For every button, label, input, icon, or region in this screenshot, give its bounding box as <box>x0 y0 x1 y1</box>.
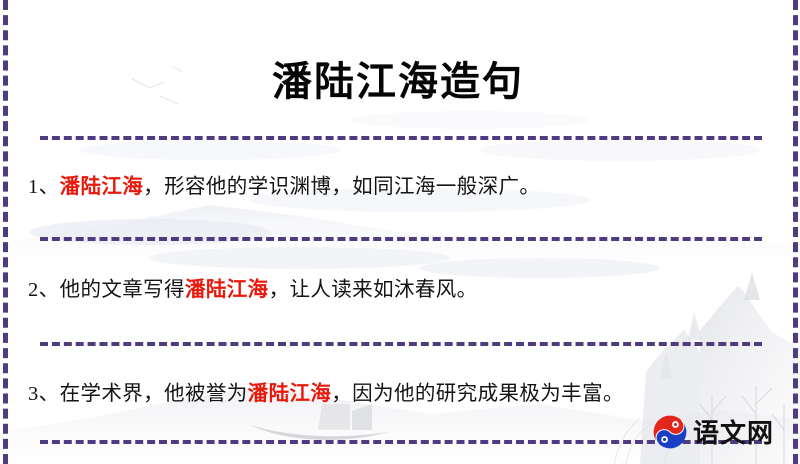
divider-3 <box>40 342 762 346</box>
page-title: 潘陆江海造句 <box>14 27 782 109</box>
divider-2 <box>40 237 762 241</box>
idiom-highlight-2: 潘陆江海 <box>185 279 269 301</box>
sentence-text-after-2: ，让人读来如沐春风。 <box>269 279 478 301</box>
dashed-border-left <box>3 0 8 464</box>
sentence-item-3: 3、在学术界，他被誉为潘陆江海，因为他的研究成果极为丰富。 <box>14 366 782 419</box>
page-root: 潘陆江海造句 1、潘陆江海，形容他的学识渊博，如同江海一般深广。 2、他的文章写… <box>0 0 800 464</box>
idiom-highlight-3: 潘陆江海 <box>248 383 332 405</box>
dashed-border-right <box>793 0 798 464</box>
sentence-text-before-2: 他的文章写得 <box>60 279 185 301</box>
divider-1 <box>40 136 762 140</box>
idiom-highlight-1: 潘陆江海 <box>60 176 144 198</box>
sentence-number-1: 1、 <box>28 176 60 198</box>
sentence-text-after-1: ，形容他的学识渊博，如同江海一般深广。 <box>143 176 540 198</box>
sentence-text-before-3: 在学术界，他被誉为 <box>60 383 248 405</box>
sentence-text-after-3: ，因为他的研究成果极为丰富。 <box>331 383 624 405</box>
site-logo[interactable]: 语文网 <box>653 413 774 450</box>
sentence-item-1: 1、潘陆江海，形容他的学识渊博，如同江海一般深广。 <box>14 160 782 216</box>
sentence-number-3: 3、 <box>28 383 60 405</box>
taiji-circle-icon <box>653 415 687 449</box>
sentence-item-2: 2、他的文章写得潘陆江海，让人读来如沐春风。 <box>14 261 782 321</box>
sentence-number-2: 2、 <box>28 279 60 301</box>
content-area: 潘陆江海造句 1、潘陆江海，形容他的学识渊博，如同江海一般深广。 2、他的文章写… <box>0 27 800 444</box>
site-logo-text: 语文网 <box>693 413 774 450</box>
